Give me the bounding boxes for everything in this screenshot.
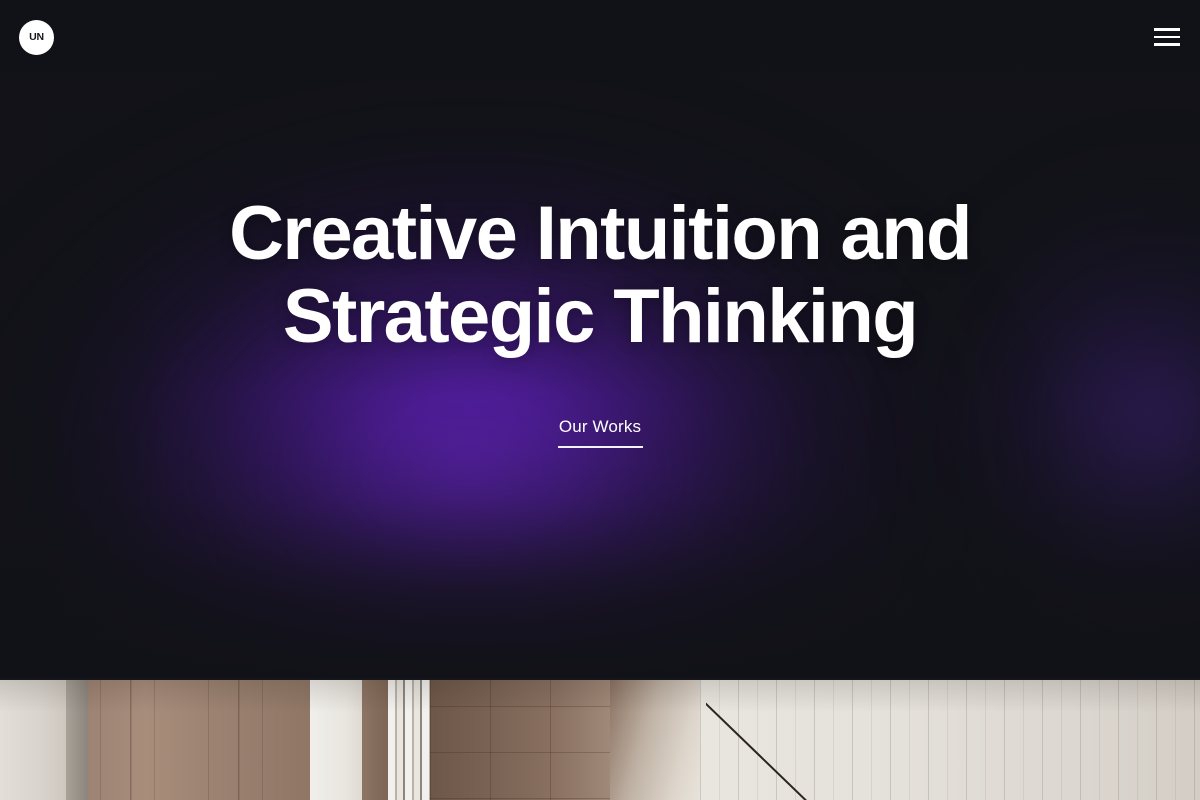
headline-line-1: Creative Intuition and xyxy=(229,194,971,273)
hero-content: Creative Intuition and Strategic Thinkin… xyxy=(0,0,1200,678)
hamburger-menu-icon[interactable] xyxy=(1154,26,1180,48)
photo-corner-highlight xyxy=(610,678,700,800)
photo-pillar-shadow xyxy=(66,678,88,800)
photo-wood-wall-left xyxy=(88,678,310,800)
hamburger-bar-1 xyxy=(1154,28,1180,31)
landing-page: UN Creative Intuition and Strategic Thin… xyxy=(0,0,1200,800)
photo-corridor-depth xyxy=(430,678,610,800)
logo-text: UN xyxy=(29,32,44,43)
site-header: UN xyxy=(0,0,1200,76)
hero-section: UN Creative Intuition and Strategic Thin… xyxy=(0,0,1200,678)
our-works-link[interactable]: Our Works xyxy=(559,418,641,435)
photo-pillar-left xyxy=(0,678,66,800)
photo-top-seam xyxy=(0,678,1200,680)
hamburger-bar-2 xyxy=(1154,36,1180,39)
photo-wood-sliver xyxy=(362,678,388,800)
hero-headline: Creative Intuition and Strategic Thinkin… xyxy=(229,194,971,356)
hero-cta: Our Works xyxy=(558,418,643,448)
circle-monogram-logo[interactable]: UN xyxy=(19,20,54,55)
photo-plaster-column xyxy=(310,678,362,800)
hamburger-bar-3 xyxy=(1154,43,1180,46)
photo-white-plank-wall xyxy=(700,678,1200,800)
photo-white-slats xyxy=(388,678,430,800)
hero-photo-strip xyxy=(0,678,1200,800)
cta-underline xyxy=(558,446,643,448)
headline-line-2: Strategic Thinking xyxy=(229,277,971,356)
